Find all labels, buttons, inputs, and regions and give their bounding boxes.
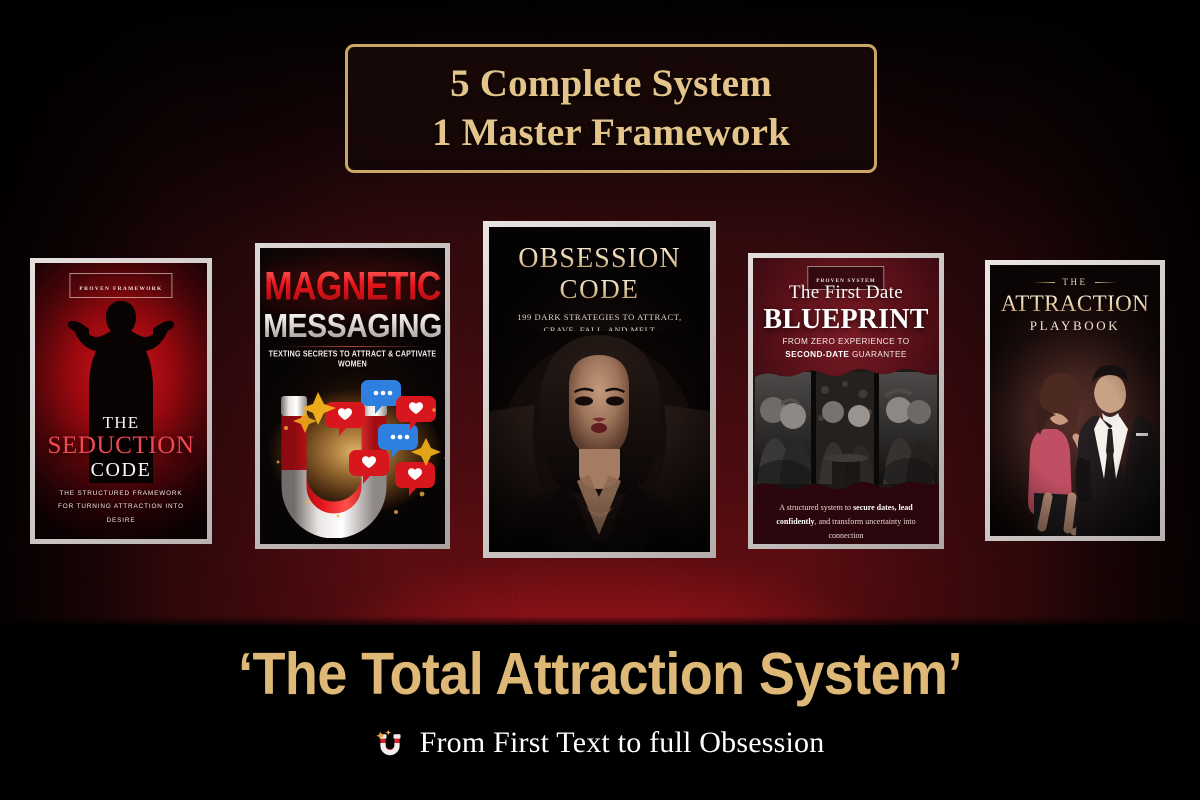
book2-title-line-2: MESSAGING xyxy=(260,308,445,346)
book5-kicker: THE xyxy=(1062,277,1087,287)
book4-subtitle-rest: GUARANTEE xyxy=(849,350,906,359)
book1-title-main: SEDUCTION xyxy=(35,432,207,460)
book-inner: THE ATTRACTION PLAYBOOK xyxy=(990,265,1160,536)
book1-subtitle-line-2: FOR TURNING ATTRACTION INTO DESIRE xyxy=(43,500,199,527)
book3-title-line-1: OBSESSION xyxy=(489,243,710,275)
book4-title-line-2: BLUEPRINT xyxy=(753,304,939,336)
book4-subtitle-line-2: SECOND-DATE GUARANTEE xyxy=(759,350,933,359)
book-inner: MAGNETIC MESSAGING TEXTING SECRETS TO AT… xyxy=(260,248,445,544)
book5-title-sub: PLAYBOOK xyxy=(990,318,1160,334)
book-inner: PROVEN SYSTEM The First Date BLUEPRINT F… xyxy=(753,258,939,544)
book-cover-seduction-code[interactable]: PROVEN FRAMEWORK THE SEDUCTION CODE THE … xyxy=(30,258,212,544)
book4-subtitle-bold: SECOND-DATE xyxy=(785,350,849,359)
book1-title-sub: CODE xyxy=(35,459,207,482)
book-inner: PROVEN FRAMEWORK THE SEDUCTION CODE THE … xyxy=(35,263,207,539)
kicker-rule-right xyxy=(1095,282,1117,283)
book-inner: OBSESSION CODE 199 DARK STRATEGIES TO AT… xyxy=(489,227,710,552)
book2-title-line-1: MAGNETIC xyxy=(260,265,445,310)
book-cover-magnetic-messaging[interactable]: MAGNETIC MESSAGING TEXTING SECRETS TO AT… xyxy=(255,243,450,549)
book5-kicker-row: THE xyxy=(990,277,1160,287)
book1-badge-label: PROVEN FRAMEWORK xyxy=(79,286,162,292)
book1-badge: PROVEN FRAMEWORK xyxy=(69,273,172,298)
book4-footer: A structured system to secure dates, lea… xyxy=(764,501,928,543)
header-line-1: 5 Complete System xyxy=(450,61,772,107)
kicker-rule-left xyxy=(1033,282,1055,283)
book-cover-first-date-blueprint[interactable]: PROVEN SYSTEM The First Date BLUEPRINT F… xyxy=(748,253,944,549)
book1-title-block: THE SEDUCTION CODE xyxy=(35,413,207,482)
book2-divider xyxy=(276,346,429,347)
book-cover-attraction-playbook[interactable]: THE ATTRACTION PLAYBOOK xyxy=(985,260,1165,541)
magnet-icon xyxy=(376,729,404,757)
book3-subtitle-line-1: 199 DARK STRATEGIES TO ATTRACT, xyxy=(501,311,698,324)
bottom-banner: ‘The Total Attraction System’ From First… xyxy=(0,625,1200,800)
book4-footer-a: A structured system to xyxy=(779,503,853,512)
promo-graphic: 5 Complete System 1 Master Framework PRO… xyxy=(0,0,1200,800)
banner-title: ‘The Total Attraction System’ xyxy=(0,640,1200,708)
book4-title-line-1: The First Date xyxy=(753,282,939,304)
book4-footer-b: secure dates, xyxy=(853,503,896,512)
book4-subtitle-line-1: FROM ZERO EXPERIENCE TO xyxy=(759,337,933,346)
book1-title-the: THE xyxy=(35,413,207,433)
banner-subtitle-row: From First Text to full Obsession xyxy=(0,726,1200,760)
book3-title-line-2: CODE xyxy=(489,274,710,305)
couple-photo-strip xyxy=(753,366,939,492)
book-cover-obsession-code[interactable]: OBSESSION CODE 199 DARK STRATEGIES TO AT… xyxy=(483,221,716,558)
woman-portrait-photo xyxy=(489,331,710,552)
book1-subtitle-block: THE STRUCTURED FRAMEWORK FOR TURNING ATT… xyxy=(43,487,199,527)
book1-subtitle-line-1: THE STRUCTURED FRAMEWORK xyxy=(43,487,199,500)
banner-subtitle: From First Text to full Obsession xyxy=(420,726,825,760)
magnet-with-message-bubbles-icon xyxy=(260,366,445,538)
illustrated-couple-art xyxy=(990,337,1160,536)
banner-fade xyxy=(0,616,1200,628)
book5-title-main: ATTRACTION xyxy=(990,291,1160,317)
header-line-2: 1 Master Framework xyxy=(432,110,790,156)
header-badge: 5 Complete System 1 Master Framework xyxy=(345,44,877,173)
book4-footer-d: , and transform xyxy=(815,517,864,526)
